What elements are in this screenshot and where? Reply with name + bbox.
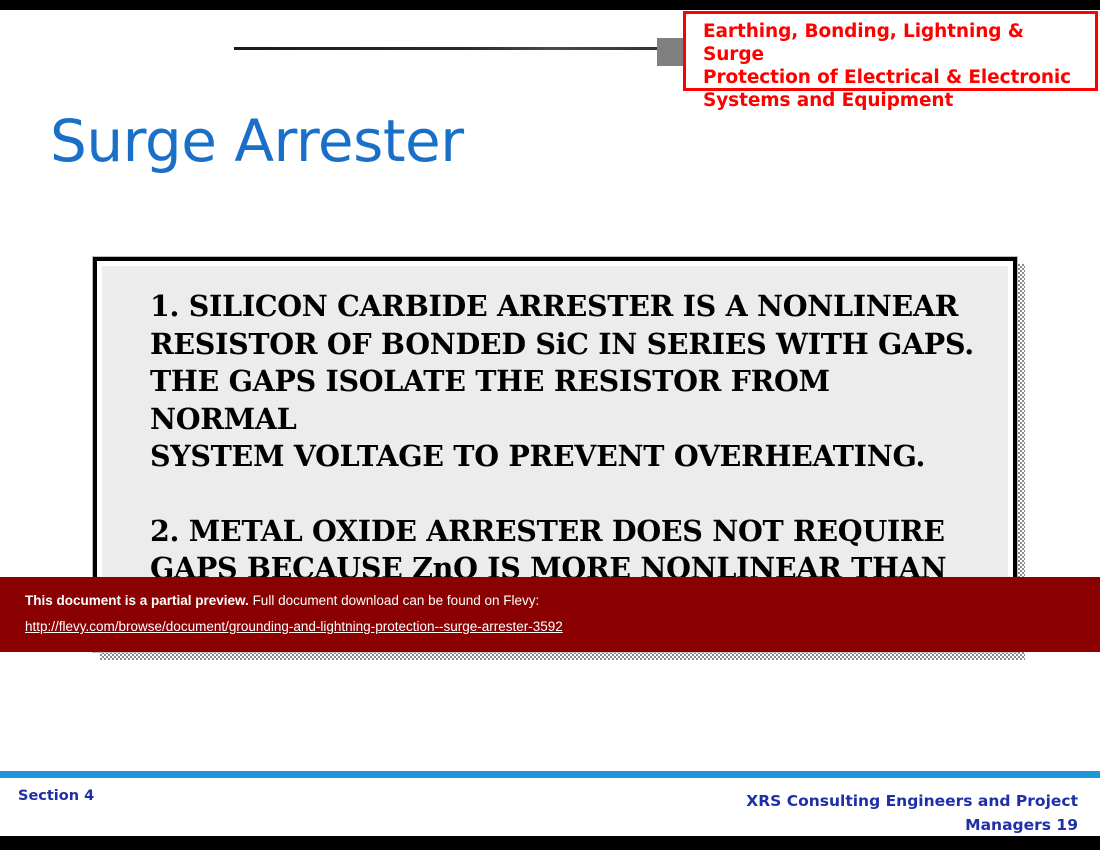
bottom-black-bar (0, 836, 1100, 850)
header-gray-square-icon (657, 38, 685, 66)
preview-banner: This document is a partial preview. Full… (0, 577, 1100, 652)
header-rule-line (234, 47, 658, 50)
footer-company-and-page: XRS Consulting Engineers and Project Man… (558, 789, 1078, 837)
slide-canvas: Earthing, Bonding, Lightning & Surge Pro… (0, 0, 1100, 850)
top-black-bar (0, 0, 1100, 10)
content-paragraph-1: 1. SILICON CARBIDE ARRESTER IS A NONLINE… (150, 288, 980, 476)
header-title-box: Earthing, Bonding, Lightning & Surge Pro… (683, 11, 1098, 91)
page-title: Surge Arrester (50, 108, 464, 174)
preview-banner-link[interactable]: http://flevy.com/browse/document/groundi… (25, 619, 563, 634)
preview-banner-message-rest: Full document download can be found on F… (249, 593, 539, 608)
footer-divider (0, 771, 1100, 778)
preview-banner-message: This document is a partial preview. Full… (25, 593, 539, 608)
preview-banner-message-strong: This document is a partial preview. (25, 593, 249, 608)
header-title-text: Earthing, Bonding, Lightning & Surge Pro… (703, 20, 1083, 112)
footer-section-label: Section 4 (18, 788, 94, 804)
